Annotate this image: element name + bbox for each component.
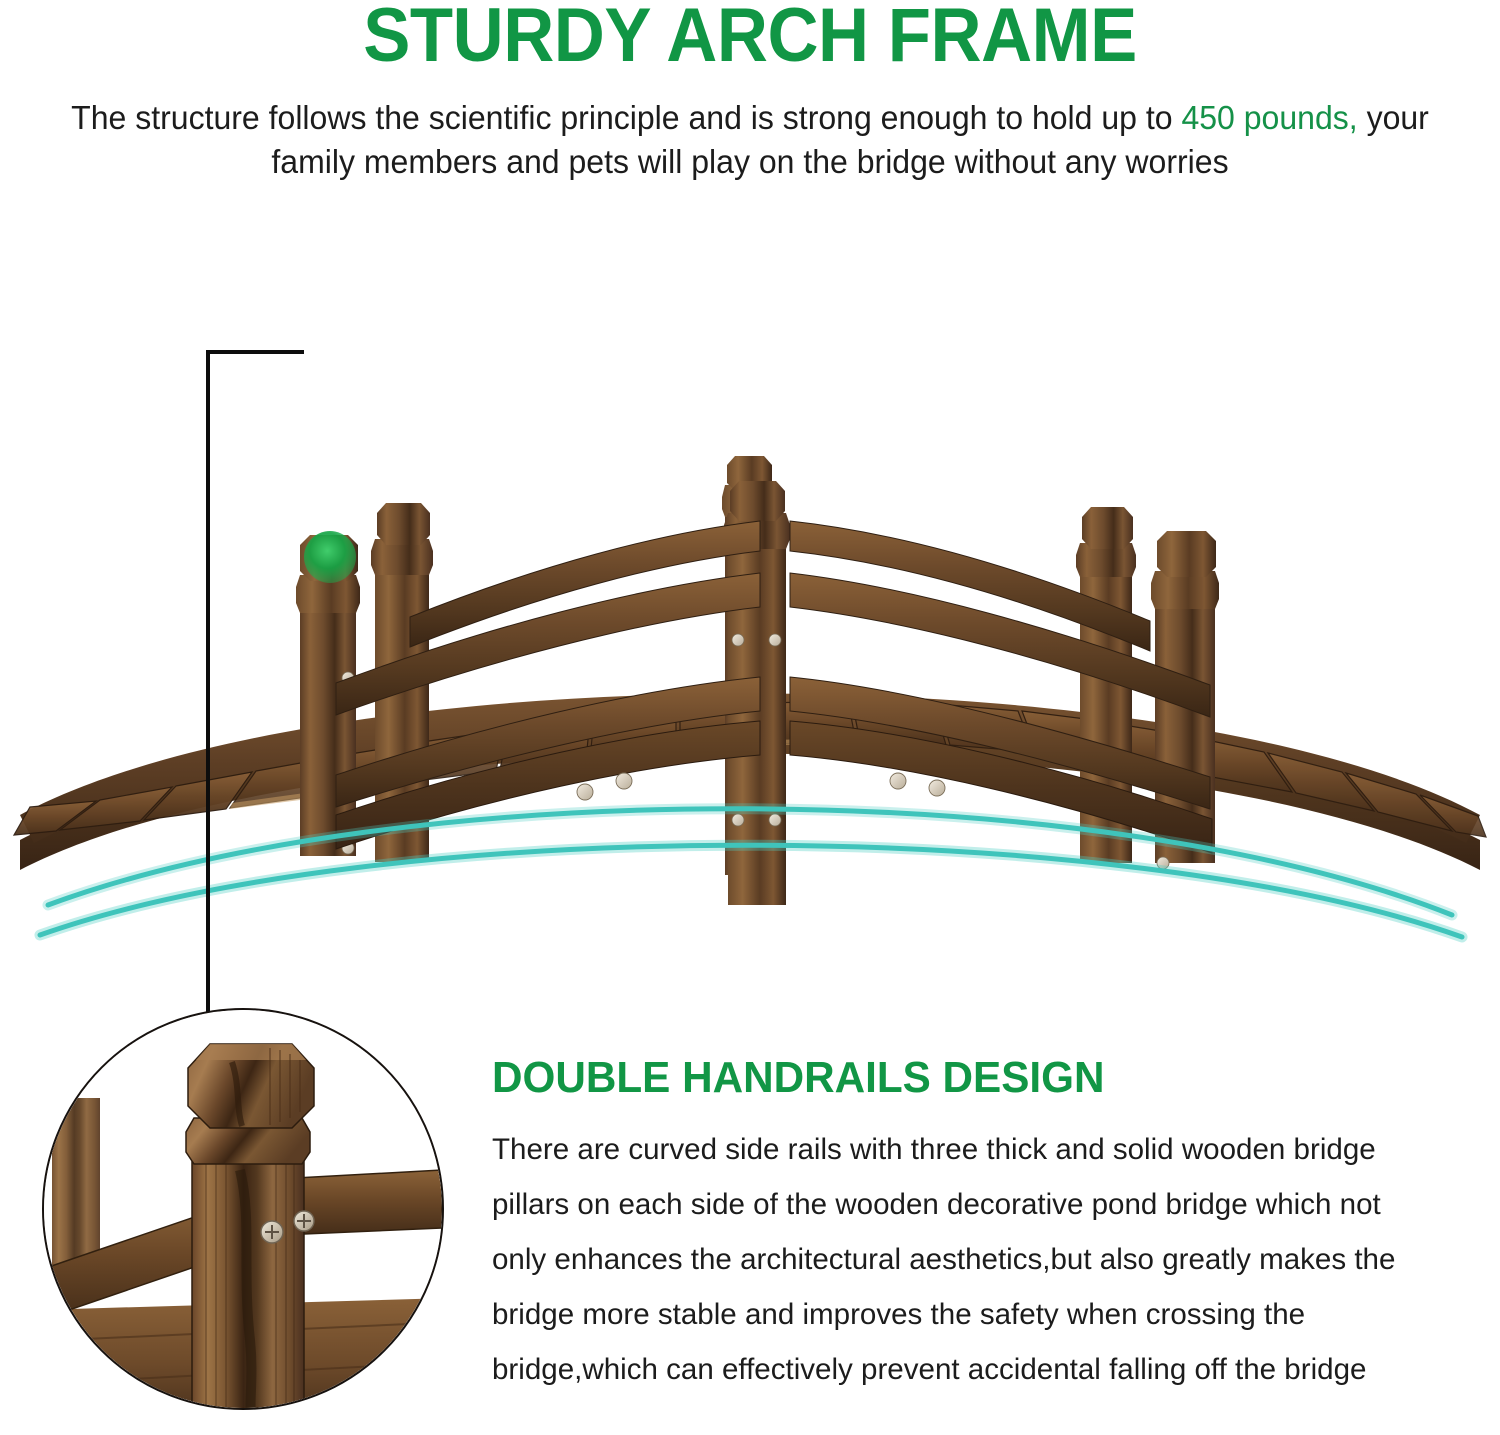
product-photo-bridge (0, 215, 1500, 975)
page-title: STURDY ARCH FRAME (53, 0, 1448, 79)
feature-body: There are curved side rails with three t… (492, 1122, 1430, 1397)
post-top-highlight-marker (304, 531, 356, 583)
bridge-illustration (0, 215, 1500, 975)
screw (769, 814, 781, 826)
subtitle-highlight: 450 pounds, (1181, 99, 1357, 136)
screw (732, 634, 744, 646)
subtitle-part-1: The structure follows the scientific pri… (71, 99, 1181, 136)
handrail-post-closeup-illustration (44, 1010, 442, 1408)
infographic-page: STURDY ARCH FRAME The structure follows … (0, 0, 1500, 1435)
detail-inset-circle (42, 1008, 444, 1410)
feature-title: DOUBLE HANDRAILS DESIGN (492, 1053, 1105, 1103)
subtitle-text: The structure follows the scientific pri… (61, 96, 1438, 184)
screw (732, 814, 744, 826)
screw (769, 634, 781, 646)
